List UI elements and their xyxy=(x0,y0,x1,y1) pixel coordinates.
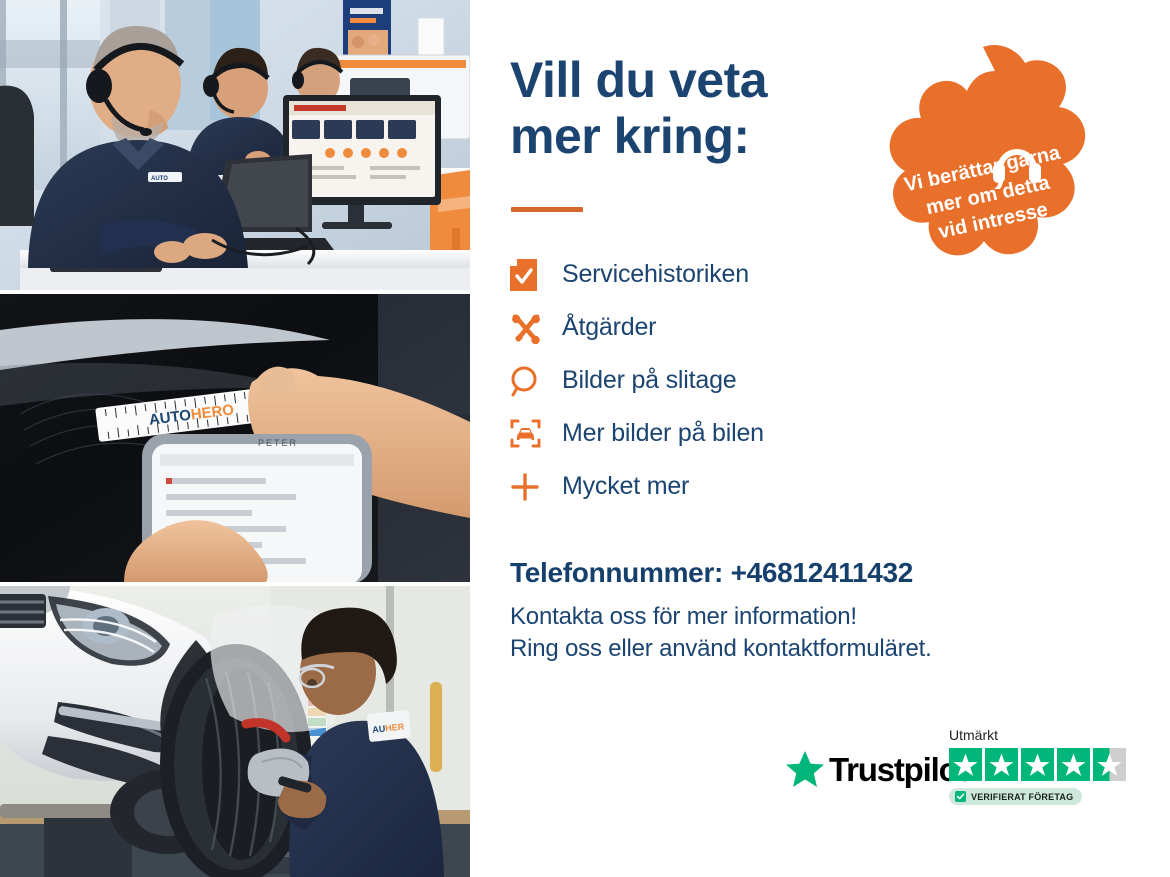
verified-check-icon xyxy=(955,791,966,802)
call-center-agents-photo: AUTO xyxy=(0,0,470,290)
trustpilot-rating-label: Utmärkt xyxy=(949,728,1129,742)
tools-wrench-screwdriver-icon xyxy=(510,312,562,344)
verified-company-label: VERIFIERAT FÖRETAG xyxy=(971,792,1073,802)
feature-item-mer-bilder-pa-bilen: Mer bilder på bilen xyxy=(510,407,930,460)
phone-number[interactable]: +46812411432 xyxy=(731,557,914,588)
phone-line: Telefonnummer: +46812411432 xyxy=(510,557,1070,589)
trustpilot-rating: Utmärkt xyxy=(949,728,1129,807)
content-column: Vill du veta mer kring: Vi berättar gärn… xyxy=(470,0,1170,877)
trustpilot-stars xyxy=(949,748,1129,781)
phone-label: Telefonnummer: xyxy=(510,557,723,588)
trustpilot-widget[interactable]: Trustpilot Utmärkt xyxy=(785,728,1145,820)
star-half xyxy=(1093,748,1126,781)
star-filled xyxy=(985,748,1018,781)
headline-line-1: Vill du veta xyxy=(510,52,767,108)
feature-item-servicehistoriken: Servicehistoriken xyxy=(510,248,930,301)
feature-item-atgarder: Åtgärder xyxy=(510,301,930,354)
trustpilot-logo: Trustpilot xyxy=(785,750,967,788)
flyer-page: AUTO xyxy=(0,0,1170,877)
magnifier-icon xyxy=(510,365,562,397)
feature-label: Åtgärder xyxy=(562,313,656,342)
svg-text:PETER: PETER xyxy=(258,438,298,448)
tire-service-photo: AUHER xyxy=(0,586,470,877)
star-filled xyxy=(1021,748,1054,781)
car-scan-frame-icon xyxy=(510,418,562,449)
feature-label: Mer bilder på bilen xyxy=(562,419,764,448)
document-check-icon xyxy=(510,259,562,291)
photo-column: AUTO xyxy=(0,0,470,877)
svg-text:AUTO: AUTO xyxy=(151,176,168,182)
contact-line-2: Ring oss eller använd kontaktformuläret. xyxy=(510,633,1070,665)
verified-company-badge: VERIFIERAT FÖRETAG xyxy=(949,788,1082,805)
star-filled xyxy=(1057,748,1090,781)
plus-icon xyxy=(510,472,562,502)
contact-line-1: Kontakta oss för mer information! xyxy=(510,601,1070,633)
star-filled xyxy=(949,748,982,781)
feature-item-mycket-mer: Mycket mer xyxy=(510,460,930,513)
feature-item-bilder-pa-slitage: Bilder på slitage xyxy=(510,354,930,407)
paint-inspection-photo: AUTOHERO PETER xyxy=(0,294,470,582)
feature-label: Mycket mer xyxy=(562,472,689,501)
feature-label: Bilder på slitage xyxy=(562,366,736,395)
title-divider xyxy=(511,207,583,212)
contact-block: Telefonnummer: +46812411432 Kontakta oss… xyxy=(510,557,1070,664)
trustpilot-wordmark: Trustpilot xyxy=(829,753,967,786)
feature-label: Servicehistoriken xyxy=(562,260,749,289)
trustpilot-star-icon xyxy=(785,750,825,788)
feature-list: Servicehistoriken Åtgärder xyxy=(510,248,930,513)
